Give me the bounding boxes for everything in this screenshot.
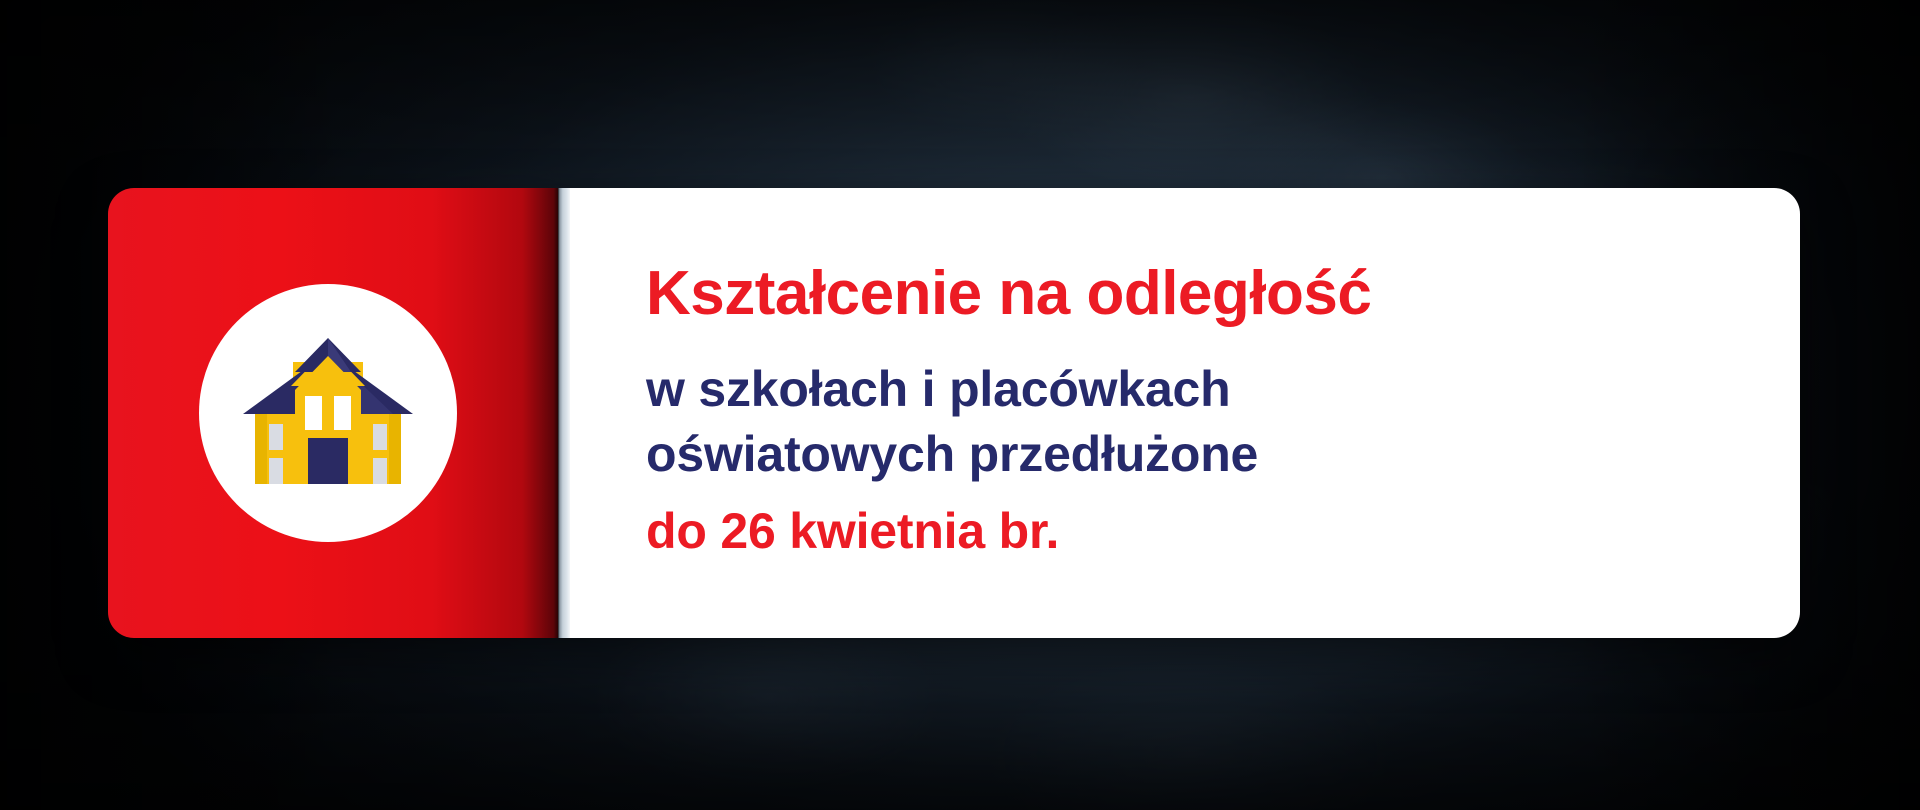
school-building-icon xyxy=(243,334,413,492)
banner-headline: Kształcenie na odległość xyxy=(646,262,1750,326)
banner-subline-1: w szkołach i placówkach xyxy=(646,357,1750,422)
panel-divider xyxy=(558,188,570,638)
banner-subline-2: oświatowych przedłużone xyxy=(646,422,1750,487)
icon-disc xyxy=(199,284,457,542)
banner-icon-panel xyxy=(108,188,558,638)
banner-subline-3: do 26 kwietnia br. xyxy=(646,499,1750,564)
banner-text-panel: Kształcenie na odległość w szkołach i pl… xyxy=(570,188,1800,638)
announcement-banner: Kształcenie na odległość w szkołach i pl… xyxy=(108,188,1800,638)
slide-stage: Kształcenie na odległość w szkołach i pl… xyxy=(0,0,1920,810)
